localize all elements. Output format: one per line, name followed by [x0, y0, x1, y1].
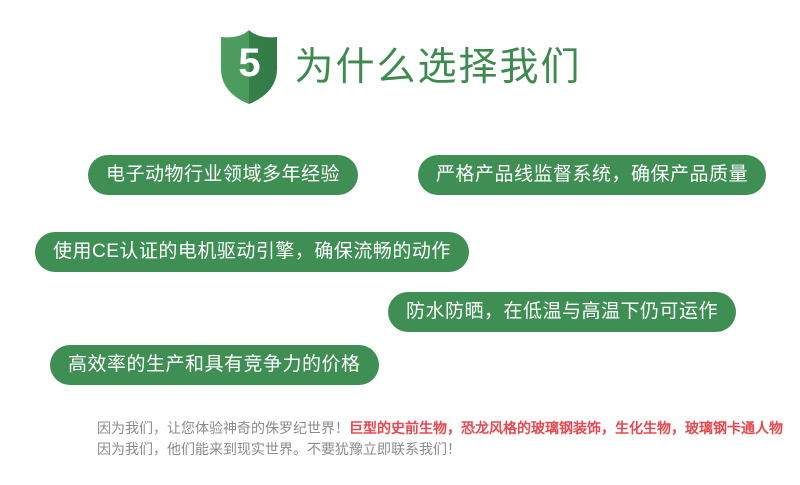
- promo-banner: 5 为什么选择我们 电子动物行业领域多年经验 严格产品线监督系统，确保产品质量 …: [0, 0, 800, 485]
- feature-pill-experience: 电子动物行业领域多年经验: [88, 155, 358, 195]
- footer-line1-highlight: 巨型的史前生物，恐龙风格的玻璃钢装饰，生化生物，玻璃钢卡通人物: [349, 420, 783, 436]
- shield-number: 5: [218, 29, 280, 105]
- footer-line-2: 因为我们，他们能来到现实世界。不要犹豫立即联系我们！: [97, 439, 777, 460]
- feature-pill-weatherproof: 防水防晒，在低温与高温下仍可运作: [388, 292, 736, 332]
- footer-line1-normal: 因为我们，让您体验神奇的侏罗纪世界！: [97, 420, 349, 436]
- feature-pill-quality-control: 严格产品线监督系统，确保产品质量: [418, 155, 766, 195]
- footer-text: 因为我们，让您体验神奇的侏罗纪世界！巨型的史前生物，恐龙风格的玻璃钢装饰，生化生…: [97, 418, 777, 460]
- feature-pill-price: 高效率的生产和具有竞争力的价格: [50, 345, 379, 385]
- feature-pill-ce-motor: 使用CE认证的电机驱动引擎，确保流畅的动作: [35, 232, 469, 272]
- header: 5 为什么选择我们: [0, 22, 800, 112]
- footer-line-1: 因为我们，让您体验神奇的侏罗纪世界！巨型的史前生物，恐龙风格的玻璃钢装饰，生化生…: [97, 418, 777, 439]
- shield-badge: 5: [218, 29, 280, 105]
- page-title: 为什么选择我们: [294, 48, 581, 87]
